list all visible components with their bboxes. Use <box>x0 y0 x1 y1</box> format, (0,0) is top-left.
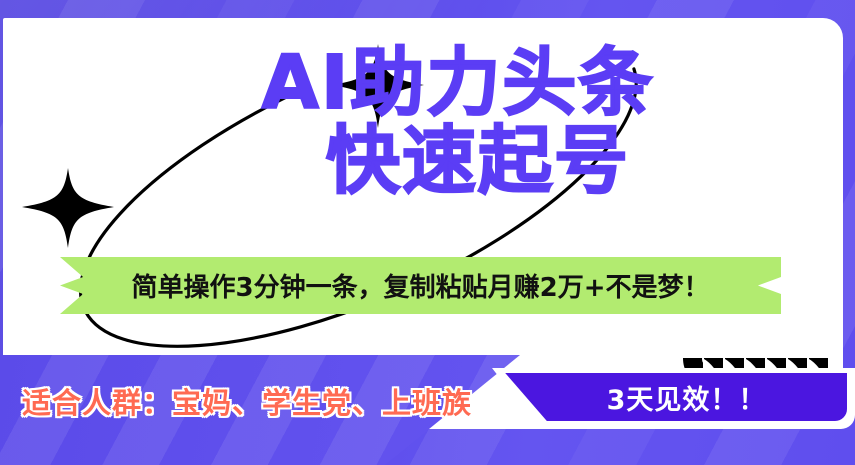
headline-line-1: AI助力头条 <box>3 44 843 122</box>
poster-headline: AI助力头条 快速起号 <box>3 44 843 200</box>
cta-label: 3天见效！！ <box>500 373 847 421</box>
cta-badge: 3天见效！！ <box>492 368 855 429</box>
audience-text: 适合人群：宝妈、学生党、上班族 <box>22 373 502 429</box>
headline-line-2: 快速起号 <box>3 122 843 200</box>
green-banner-text: 简单操作3分钟一条，复制粘贴月赚2万+不是梦！ <box>60 257 781 314</box>
poster-canvas: AI助力头条 快速起号 简单操作3分钟一条，复制粘贴月赚2万+不是梦！ <box>0 0 855 465</box>
